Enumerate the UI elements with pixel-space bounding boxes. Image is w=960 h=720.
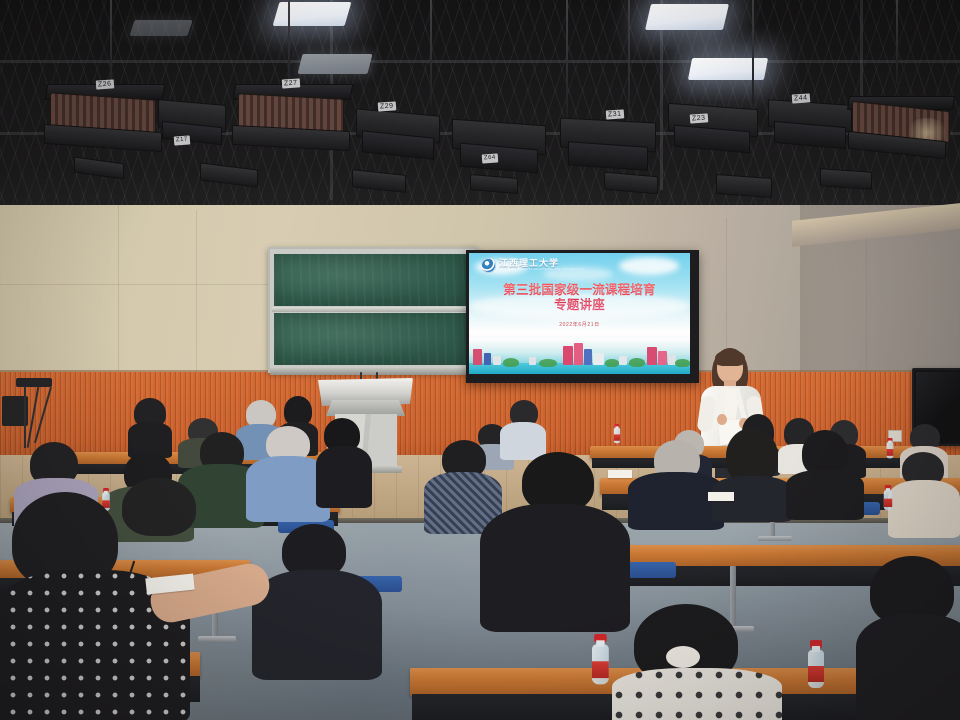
audience-member-foreground-right (612, 604, 782, 720)
slide-title-line2: 专题讲座 (469, 298, 690, 313)
blackboard-divider (272, 307, 473, 312)
led-screen-bezel: 江西理工大学 JIANGXI UNIVERSITY OF SCIENCE AND… (466, 250, 699, 383)
bottle-label (884, 499, 892, 507)
tripod-head (16, 378, 52, 387)
tree (629, 358, 645, 367)
wall-seam (866, 238, 867, 372)
university-emblem-icon (481, 258, 496, 273)
building (473, 349, 482, 365)
fixture-label: Z29 (378, 101, 396, 111)
ceiling-panel-light (298, 54, 373, 74)
blackboard-panel-upper (274, 254, 471, 306)
slide-title: 第三批国家级一流课程培育 专题讲座 (469, 283, 690, 313)
fixture-label: Z44 (792, 93, 810, 103)
university-name-cn: 江西理工大学 (499, 259, 584, 268)
audience-member (500, 400, 546, 458)
stage-light-fixture: Z27 (232, 84, 352, 148)
fixture-label: Z26 (96, 79, 114, 89)
building (484, 353, 491, 365)
tree (605, 359, 619, 367)
fixture-rod (288, 0, 290, 88)
building (563, 346, 573, 365)
stage-light-fixture: Z26 (44, 84, 164, 148)
stage-light-fixture: Z17 (158, 96, 228, 144)
presenter-hand-left (717, 414, 727, 425)
university-name-en: JIANGXI UNIVERSITY OF SCIENCE AND TECHNO… (499, 269, 584, 272)
notepad (708, 492, 734, 501)
ceiling-panel-light (129, 20, 192, 36)
fixture-label: Z23 (690, 113, 708, 123)
campus-panorama (469, 339, 690, 374)
university-wordmark: 江西理工大学 JIANGXI UNIVERSITY OF SCIENCE AND… (499, 259, 584, 272)
bottle-label (614, 434, 620, 440)
stage-light-fixture: Z31 (560, 112, 658, 170)
fixture-rod (430, 0, 432, 106)
audience-member (316, 418, 372, 506)
chalk-tray (270, 368, 475, 375)
building (619, 356, 627, 365)
truss-clamp (716, 174, 772, 198)
building (493, 356, 501, 365)
fixture-rod (752, 0, 754, 104)
stage-light-fixture: Z23 (668, 98, 760, 156)
torso (628, 472, 724, 530)
stage-light-fixture: Z29 (356, 104, 442, 160)
led-screen[interactable]: 江西理工大学 JIANGXI UNIVERSITY OF SCIENCE AND… (469, 253, 690, 374)
fixture-rod (566, 0, 568, 122)
microphone (360, 372, 362, 380)
hair (522, 452, 594, 512)
ceiling-panel-light (645, 4, 729, 30)
fixture-rod (896, 0, 898, 84)
tripod-leg (24, 386, 26, 448)
audience-member (480, 452, 630, 628)
bottle-label (808, 666, 824, 682)
building (647, 347, 657, 365)
stage-light-fixture (848, 96, 956, 158)
barn-door (568, 141, 648, 171)
stage-light-fixture: Z44 (768, 96, 854, 152)
torso (888, 480, 960, 538)
torso (856, 614, 960, 720)
fixture-label: Z64 (482, 153, 498, 163)
desk-foot (198, 636, 236, 642)
audience-member (712, 428, 792, 518)
wall-seam (118, 205, 119, 375)
ceiling-panel-light (273, 2, 352, 26)
truss-clamp (820, 168, 872, 190)
tree (675, 359, 690, 367)
wall-seam (196, 210, 197, 372)
audience-member (128, 398, 172, 456)
audience-member-foreground-center (96, 478, 232, 628)
bottle-label (592, 661, 609, 678)
ceiling-truss-grid: Z26 Z17 Z27 Z29 Z64 Z31 (0, 0, 960, 215)
tree (503, 358, 519, 367)
audience-member (786, 430, 864, 518)
audience-member (628, 440, 724, 526)
desk-foot (758, 536, 792, 541)
blackboard-panel-lower (274, 313, 471, 365)
fixture-rod (628, 0, 630, 128)
torso (252, 570, 382, 680)
university-logo: 江西理工大学 JIANGXI UNIVERSITY OF SCIENCE AND… (481, 258, 584, 273)
fixture-label: Z31 (606, 109, 624, 119)
presenter-fringe (715, 350, 745, 366)
audience-member (252, 524, 382, 674)
tree (539, 359, 557, 367)
torso (612, 668, 782, 720)
hair (122, 478, 196, 536)
slide-title-line1: 第三批国家级一流课程培育 (469, 283, 690, 298)
audience-member-foreground-far-right (856, 556, 960, 720)
audience-member (888, 452, 960, 534)
building (529, 357, 536, 365)
hair-scrunchie (666, 646, 700, 668)
ceiling-beam (0, 60, 960, 63)
building (574, 343, 583, 365)
building (584, 349, 592, 365)
blackboard (268, 247, 477, 373)
slide-date: 2022年6月21日 (469, 321, 690, 328)
torso (480, 504, 630, 632)
fixture-label: Z27 (282, 78, 300, 88)
torso (786, 470, 864, 520)
wall-seam (0, 284, 270, 285)
cloud (619, 257, 679, 275)
fixture-label: Z17 (174, 135, 190, 145)
stage-light-fixture: Z64 (452, 112, 548, 172)
building (593, 353, 604, 365)
lecture-hall-photo: Z26 Z17 Z27 Z29 Z64 Z31 (0, 0, 960, 720)
ceiling-panel-light (688, 58, 768, 80)
torso (316, 446, 372, 508)
building (658, 351, 667, 365)
tripod-leg (27, 386, 40, 447)
